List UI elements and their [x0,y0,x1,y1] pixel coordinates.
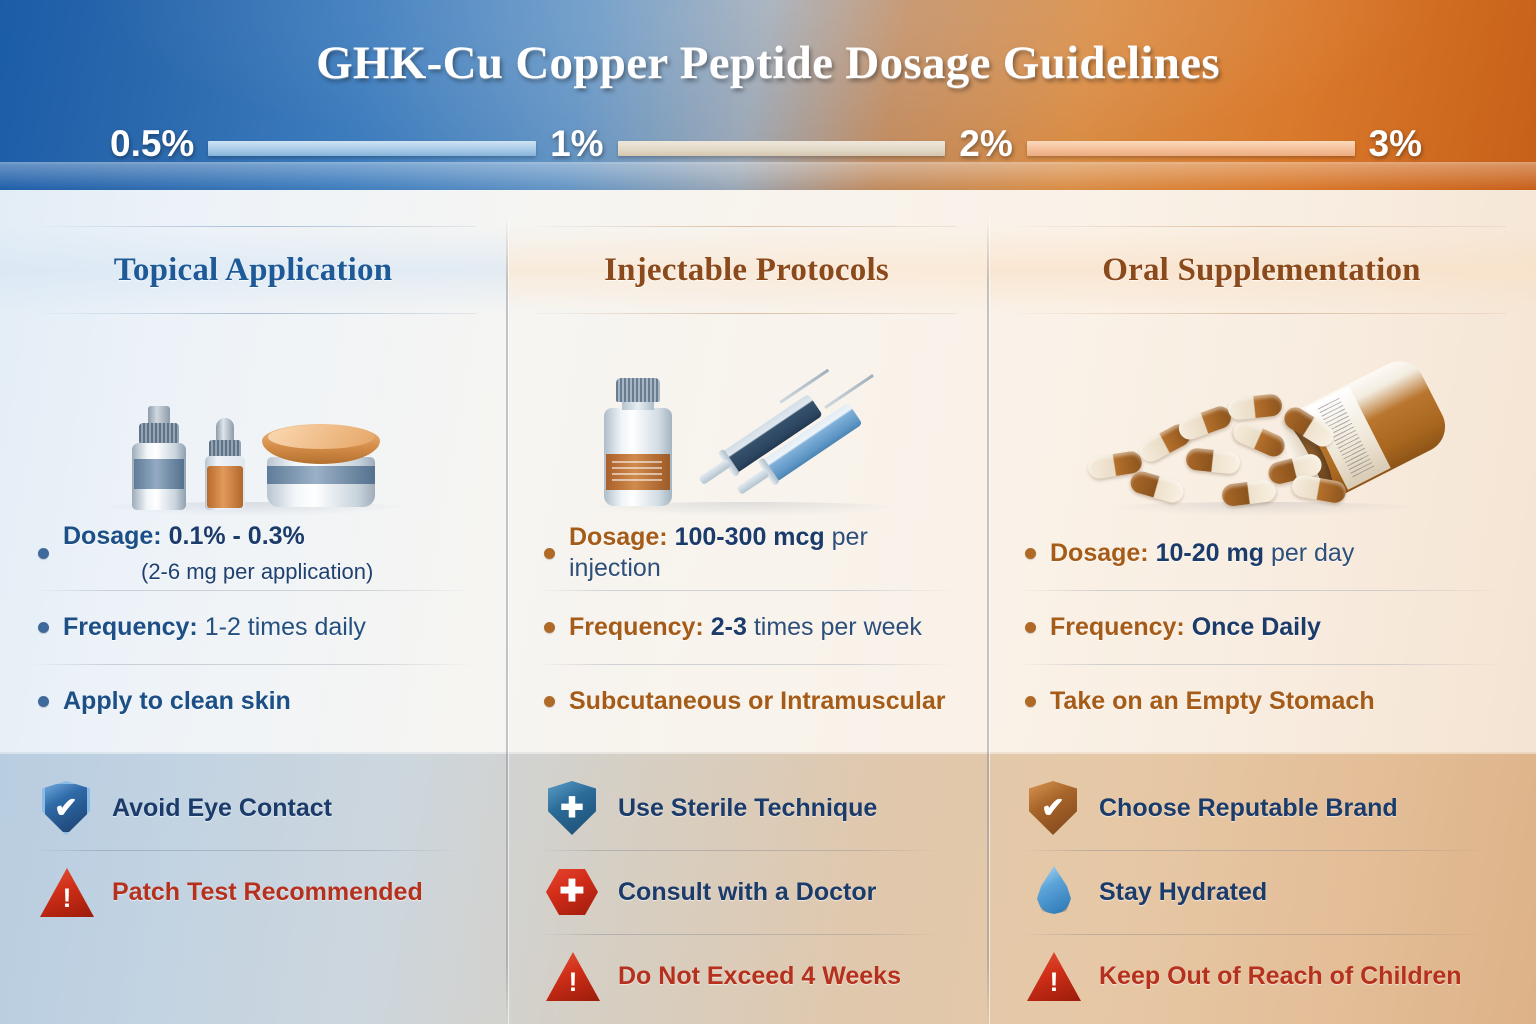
bullet-value: 10-20 mg [1156,539,1264,567]
bullet-text: Dosage: 0.1% - 0.3% (2-6 mg per applicat… [63,521,373,585]
bullet-route: Subcutaneous or Intramuscular [506,664,987,738]
header-sheen [0,0,1536,190]
bullet-dosage: Dosage: 100-300 mcg per injection [506,516,987,590]
bullet-value: Once Daily [1192,613,1321,641]
header-rule-top [1017,226,1506,227]
capsule-icon [1128,469,1186,505]
scale-label-2: 2% [945,125,1026,162]
bullet-dot [1025,696,1036,707]
cream-jar-icon [262,424,380,510]
warning-triangle-icon: ! [544,947,600,1005]
bullet-subnote: (2-6 mg per application) [63,558,373,585]
topical-illustration [0,314,506,510]
bullet-label: Dosage: [63,522,162,550]
bullet-dot [1025,622,1036,633]
bullet-text: Dosage: 10-20 mg per day [1050,538,1354,569]
safety-separator [1021,934,1490,935]
bullet-value: 1-2 times daily [205,613,366,641]
column-header-oral: Oral Supplementation [987,226,1536,314]
bullet-text: Dosage: 100-300 mcg per injection [569,522,957,584]
column-divider-2 [987,218,989,1024]
header-rule-top [30,226,476,227]
cross-glyph: ✚ [560,794,583,822]
oral-illustration [987,314,1536,510]
column-title-injectable: Injectable Protocols [604,252,889,289]
bullet-instruction: Apply to clean skin [0,664,506,738]
exclamation-glyph: ! [1050,969,1059,1001]
safety-label: Consult with a Doctor [618,878,876,907]
topical-illustration-group [126,406,381,510]
bullet-value-suffix: per day [1271,539,1354,567]
safety-separator [540,934,941,935]
bullet-separator [1017,590,1506,591]
capsule-icon [1184,447,1240,475]
medicine-vial-icon [600,378,676,506]
spray-bottle-icon [126,406,192,510]
cross-glyph: ✚ [559,877,584,907]
bullet-value: 0.1% - 0.3% [169,522,305,550]
safety-item-avoid-eye-contact: ✔ Avoid Eye Contact [30,766,480,850]
bullet-separator [536,590,957,591]
oral-bullets: Dosage: 10-20 mg per day Frequency: Once… [987,510,1536,752]
water-drop-icon [1025,863,1081,921]
injectable-safety-list: ✚ Use Sterile Technique ✚ Consult with a… [506,752,987,1024]
warning-triangle-icon: ! [1025,947,1081,1005]
oral-safety-list: ✔ Choose Reputable Brand Stay Hydrated ! [987,752,1536,1024]
page-title: GHK-Cu Copper Peptide Dosage Guidelines [0,36,1536,90]
warning-triangle-icon: ! [38,863,94,921]
scale-bar-1 [618,141,946,156]
column-title-topical: Topical Application [114,252,393,289]
bullet-text: Take on an Empty Stomach [1050,686,1375,717]
safety-item-stay-hydrated: Stay Hydrated [1017,850,1510,934]
bullet-dosage: Dosage: 10-20 mg per day [987,516,1536,590]
injectable-illustration-group [582,360,912,510]
safety-label: Patch Test Recommended [112,878,423,907]
scale-label-3: 3% [1355,125,1436,162]
safety-label: Avoid Eye Contact [112,794,332,823]
safety-item-reputable-brand: ✔ Choose Reputable Brand [1017,766,1510,850]
bullet-label: Frequency: [63,613,198,641]
bullet-dot [38,696,49,707]
shield-cross-icon: ✚ [544,779,600,837]
safety-separator [1021,850,1490,851]
bullet-instruction: Take on an Empty Stomach [987,664,1536,738]
shield-check-icon: ✔ [1025,779,1081,837]
dropper-bottle-icon [202,418,248,510]
bullet-text: Frequency: Once Daily [1050,612,1321,643]
bullet-label: Frequency: [569,613,704,641]
safety-label: Do Not Exceed 4 Weeks [618,962,901,991]
header-banner: GHK-Cu Copper Peptide Dosage Guidelines … [0,0,1536,190]
infographic-page: GHK-Cu Copper Peptide Dosage Guidelines … [0,0,1536,1024]
column-header-injectable: Injectable Protocols [506,226,987,314]
bullet-frequency: Frequency: 2-3 times per week [506,590,987,664]
exclamation-glyph: ! [63,885,72,917]
safety-label: Choose Reputable Brand [1099,794,1398,823]
bullet-value: 2-3 [711,613,747,641]
bullet-dot [38,548,49,559]
bullet-label: Frequency: [1050,613,1185,641]
bullet-dot [544,622,555,633]
columns-container: Topical Application [0,190,1536,1024]
oral-illustration-group [1082,350,1442,510]
column-header-topical: Topical Application [0,226,506,314]
bullet-dosage: Dosage: 0.1% - 0.3% (2-6 mg per applicat… [0,516,506,590]
bullet-text: Frequency: 1-2 times daily [63,612,366,643]
illustration-shadow [1097,502,1427,516]
safety-separator [34,850,460,851]
concentration-scale: 0.5% 1% 2% 3% [96,118,1436,168]
column-oral-supplementation: Oral Supplementation [987,190,1536,1024]
column-title-oral: Oral Supplementation [1102,252,1420,289]
safety-item-duration-limit: ! Do Not Exceed 4 Weeks [536,934,961,1018]
scale-bar-2 [1027,141,1355,156]
bullet-dot [544,548,555,559]
bullet-separator [30,664,476,665]
column-injectable-protocols: Injectable Protocols [506,190,987,1024]
bullet-text: Apply to clean skin [63,686,291,717]
medical-cross-hexagon-icon: ✚ [544,863,600,921]
bullet-separator [536,664,957,665]
bullet-frequency: Frequency: Once Daily [987,590,1536,664]
bullet-frequency: Frequency: 1-2 times daily [0,590,506,664]
column-topical-application: Topical Application [0,190,506,1024]
scale-bar-0 [208,141,536,156]
capsule-icon [1175,403,1233,442]
safety-label: Keep Out of Reach of Children [1099,962,1462,991]
injectable-illustration [506,314,987,510]
bullet-value: Apply to clean skin [63,687,291,715]
bullet-value: Subcutaneous or Intramuscular [569,687,945,715]
bullet-label: Dosage: [1050,539,1149,567]
header-rule-top [536,226,957,227]
bullet-label: Dosage: [569,523,668,551]
bullet-value: 100-300 mcg [675,523,825,551]
bullet-value: Take on an Empty Stomach [1050,687,1375,715]
bullet-dot [544,696,555,707]
safety-item-sterile-technique: ✚ Use Sterile Technique [536,766,961,850]
safety-item-patch-test: ! Patch Test Recommended [30,850,480,934]
bullet-text: Frequency: 2-3 times per week [569,612,922,643]
bullet-separator [30,590,476,591]
bullet-dot [38,622,49,633]
column-divider-1 [506,218,508,1024]
exclamation-glyph: ! [569,969,578,1001]
bullet-value-suffix: times per week [754,613,922,641]
bullet-dot [1025,548,1036,559]
shield-check-icon: ✔ [38,779,94,837]
bullet-separator [1017,664,1506,665]
check-glyph: ✔ [1041,794,1064,822]
safety-item-keep-from-children: ! Keep Out of Reach of Children [1017,934,1510,1018]
safety-label: Use Sterile Technique [618,794,877,823]
safety-label: Stay Hydrated [1099,878,1267,907]
scale-label-0: 0.5% [96,125,208,162]
injectable-bullets: Dosage: 100-300 mcg per injection Freque… [506,510,987,752]
topical-bullets: Dosage: 0.1% - 0.3% (2-6 mg per applicat… [0,510,506,752]
check-glyph: ✔ [54,794,77,822]
safety-separator [540,850,941,851]
capsule-icon [1226,393,1282,421]
scale-label-1: 1% [536,125,617,162]
bullet-text: Subcutaneous or Intramuscular [569,686,945,717]
safety-item-consult-doctor: ✚ Consult with a Doctor [536,850,961,934]
topical-safety-list: ✔ Avoid Eye Contact ! Patch Test Recomme… [0,752,506,1024]
